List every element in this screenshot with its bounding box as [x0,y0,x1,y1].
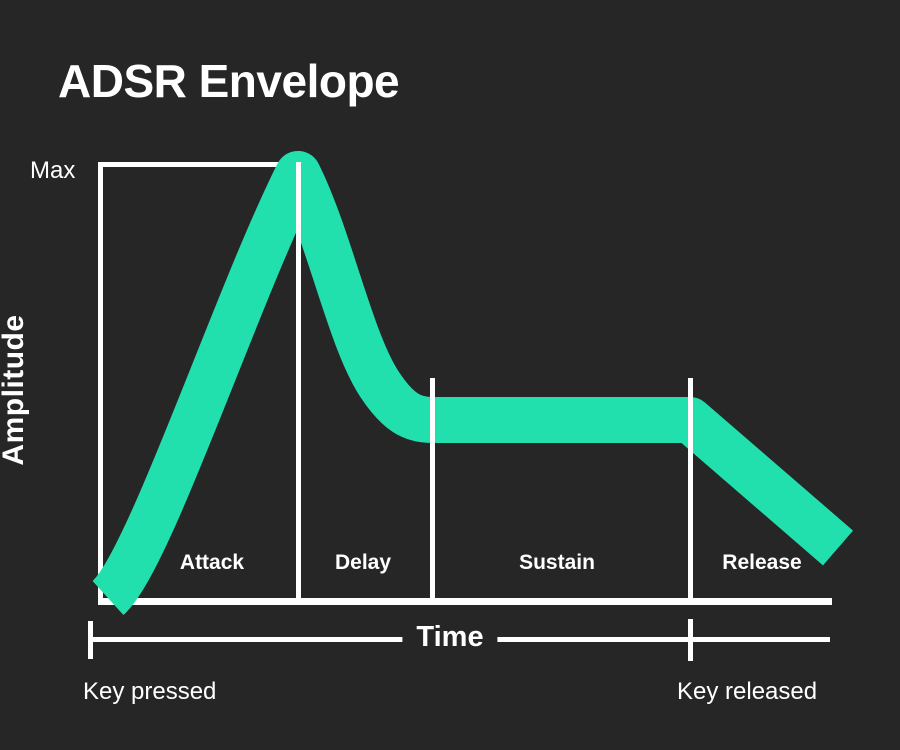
time-axis-tick-key-pressed [88,621,93,659]
phase-divider-attack-delay [296,162,301,602]
marker-label-key-pressed: Key pressed [83,678,216,706]
y-axis-line [98,162,103,605]
phase-divider-sustain-release [688,378,693,602]
max-level-guide-line [98,162,301,167]
adsr-envelope-figure: ADSR Envelope Max Amplitude Attack Delay… [0,0,900,750]
phase-label-attack: Attack [180,551,244,575]
time-axis-tick-key-released [688,619,693,661]
phase-label-delay: Delay [335,551,391,575]
x-axis-title: Time [402,621,497,654]
marker-label-key-released: Key released [677,678,817,706]
phase-label-release: Release [722,551,801,575]
phase-label-sustain: Sustain [519,551,595,575]
x-axis-line [98,598,832,605]
phase-divider-delay-sustain [430,378,435,602]
envelope-curve [108,174,838,598]
